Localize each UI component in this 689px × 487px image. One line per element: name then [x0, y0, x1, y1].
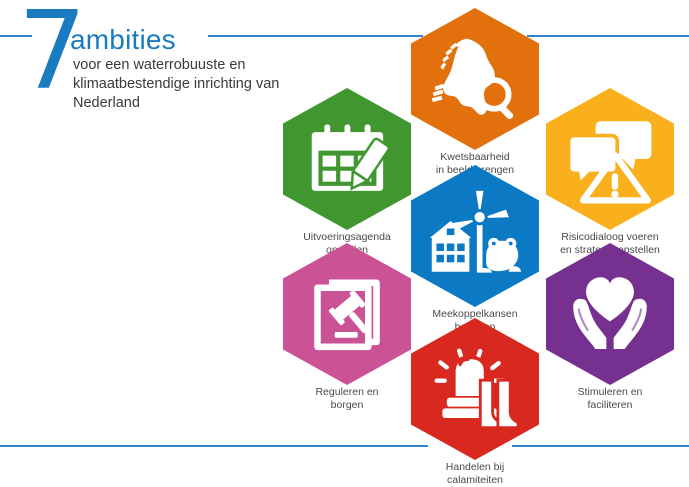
label-line-2: faciliteren: [526, 399, 689, 412]
hexagon-risicodialoog[interactable]: Risicodialoog voeren en strategie opstel…: [546, 88, 674, 230]
label-line-2: calamiteiten: [391, 474, 559, 487]
hexagon-stimuleren[interactable]: Stimuleren en faciliteren: [546, 243, 674, 385]
siren-boots-icon: [431, 345, 519, 433]
hexagon-label: Handelen bij calamiteiten: [391, 461, 559, 487]
label-line-1: Stimuleren en: [526, 386, 689, 399]
house-windturbine-frog-icon: [428, 189, 522, 283]
hexagon-meekoppelkansen[interactable]: Meekoppelkansen benutten: [411, 165, 539, 307]
infographic-canvas: 7 ambities voor een waterrobuuste en kli…: [0, 0, 689, 458]
hexagon-shape: [283, 88, 411, 230]
hexagon-reguleren[interactable]: Reguleren en borgen: [283, 243, 411, 385]
bottom-left-rule: [0, 445, 428, 447]
netherlands-map-magnifier-icon: [427, 31, 523, 127]
label-line-1: Kwetsbaarheid: [391, 151, 559, 164]
page-title: ambities: [70, 26, 176, 54]
header-block: 7 ambities voor een waterrobuuste en kli…: [18, 4, 318, 114]
hexagon-shape: [283, 243, 411, 385]
label-line-1: Reguleren en: [263, 386, 431, 399]
hexagon-calamiteiten[interactable]: Handelen bij calamiteiten: [411, 318, 539, 460]
lawbook-gavel-icon: [306, 273, 388, 355]
hexagon-shape: [411, 8, 539, 150]
hexagon-shape: [411, 165, 539, 307]
calendar-pen-icon: [305, 117, 389, 201]
hexagon-shape: [546, 88, 674, 230]
top-right-rule: [527, 35, 689, 37]
speech-bubbles-warning-icon: [565, 114, 655, 204]
hexagon-kwetsbaarheid[interactable]: Kwetsbaarheid in beeld brengen: [411, 8, 539, 150]
hexagon-shape: [411, 318, 539, 460]
label-line-2: borgen: [263, 399, 431, 412]
hexagon-label: Reguleren en borgen: [263, 386, 431, 412]
hands-heart-icon: [564, 268, 656, 360]
hexagon-shape: [546, 243, 674, 385]
label-line-1: Handelen bij: [391, 461, 559, 474]
hexagon-label: Stimuleren en faciliteren: [526, 386, 689, 412]
hexagon-uitvoeringsagenda[interactable]: Uitvoeringsagenda opstellen: [283, 88, 411, 230]
